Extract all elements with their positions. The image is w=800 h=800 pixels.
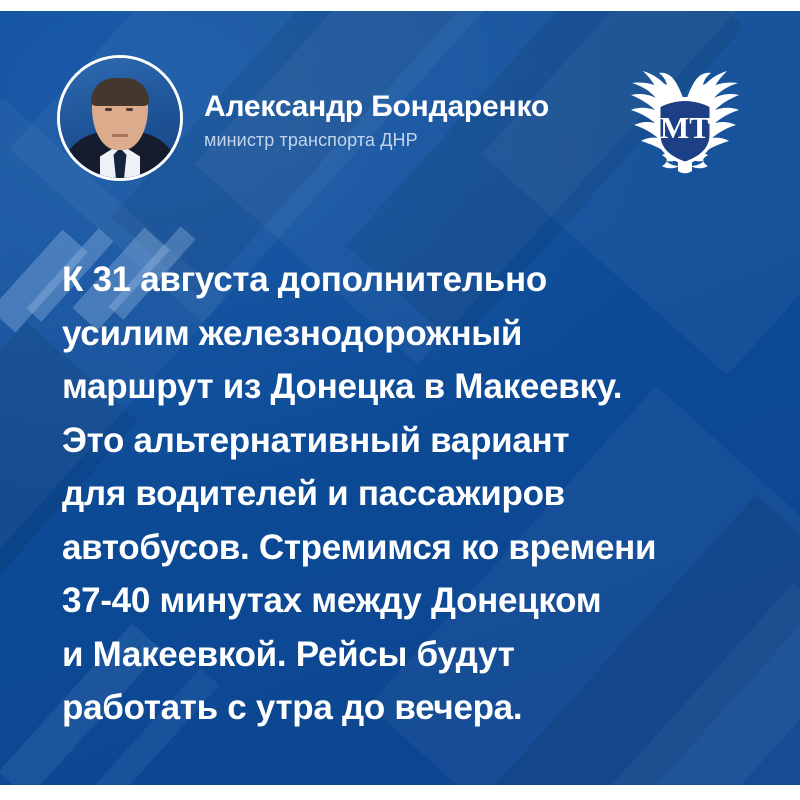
- quote-line: усилим железнодорожный: [62, 307, 752, 361]
- portrait-hair: [91, 78, 149, 106]
- speaker-identity: Александр Бондаренко министр транспорта …: [204, 90, 549, 151]
- quote-line: и Макеевкой. Рейсы будут: [62, 628, 752, 682]
- portrait-eye-right: [126, 108, 133, 111]
- avatar: [57, 55, 183, 181]
- portrait-eye-left: [105, 108, 112, 111]
- portrait-photo: [60, 58, 180, 178]
- quote-line: 37-40 минутах между Донецком: [62, 574, 752, 628]
- emblem-monogram: МТ: [660, 110, 710, 145]
- speaker-role: министр транспорта ДНР: [204, 130, 549, 151]
- poster-panel: Александр Бондаренко министр транспорта …: [0, 11, 800, 785]
- dnr-ministry-of-transport-emblem-icon: МТ: [622, 59, 748, 181]
- quote-line: для водителей и пассажиров: [62, 467, 752, 521]
- quote-line: К 31 августа дополнительно: [62, 253, 752, 307]
- quote-line: работать с утра до вечера.: [62, 681, 752, 735]
- quote-line: маршрут из Донецка в Макеевку.: [62, 360, 752, 414]
- card-header: Александр Бондаренко министр транспорта …: [0, 11, 800, 211]
- quote-text: К 31 августа дополнительно усилим железн…: [62, 253, 752, 735]
- speaker-name: Александр Бондаренко: [204, 90, 549, 123]
- social-quote-card: Александр Бондаренко министр транспорта …: [0, 0, 800, 800]
- quote-line: Это альтернативный вариант: [62, 414, 752, 468]
- portrait-mouth: [112, 134, 128, 137]
- quote-line: автобусов. Стремимся ко времени: [62, 521, 752, 575]
